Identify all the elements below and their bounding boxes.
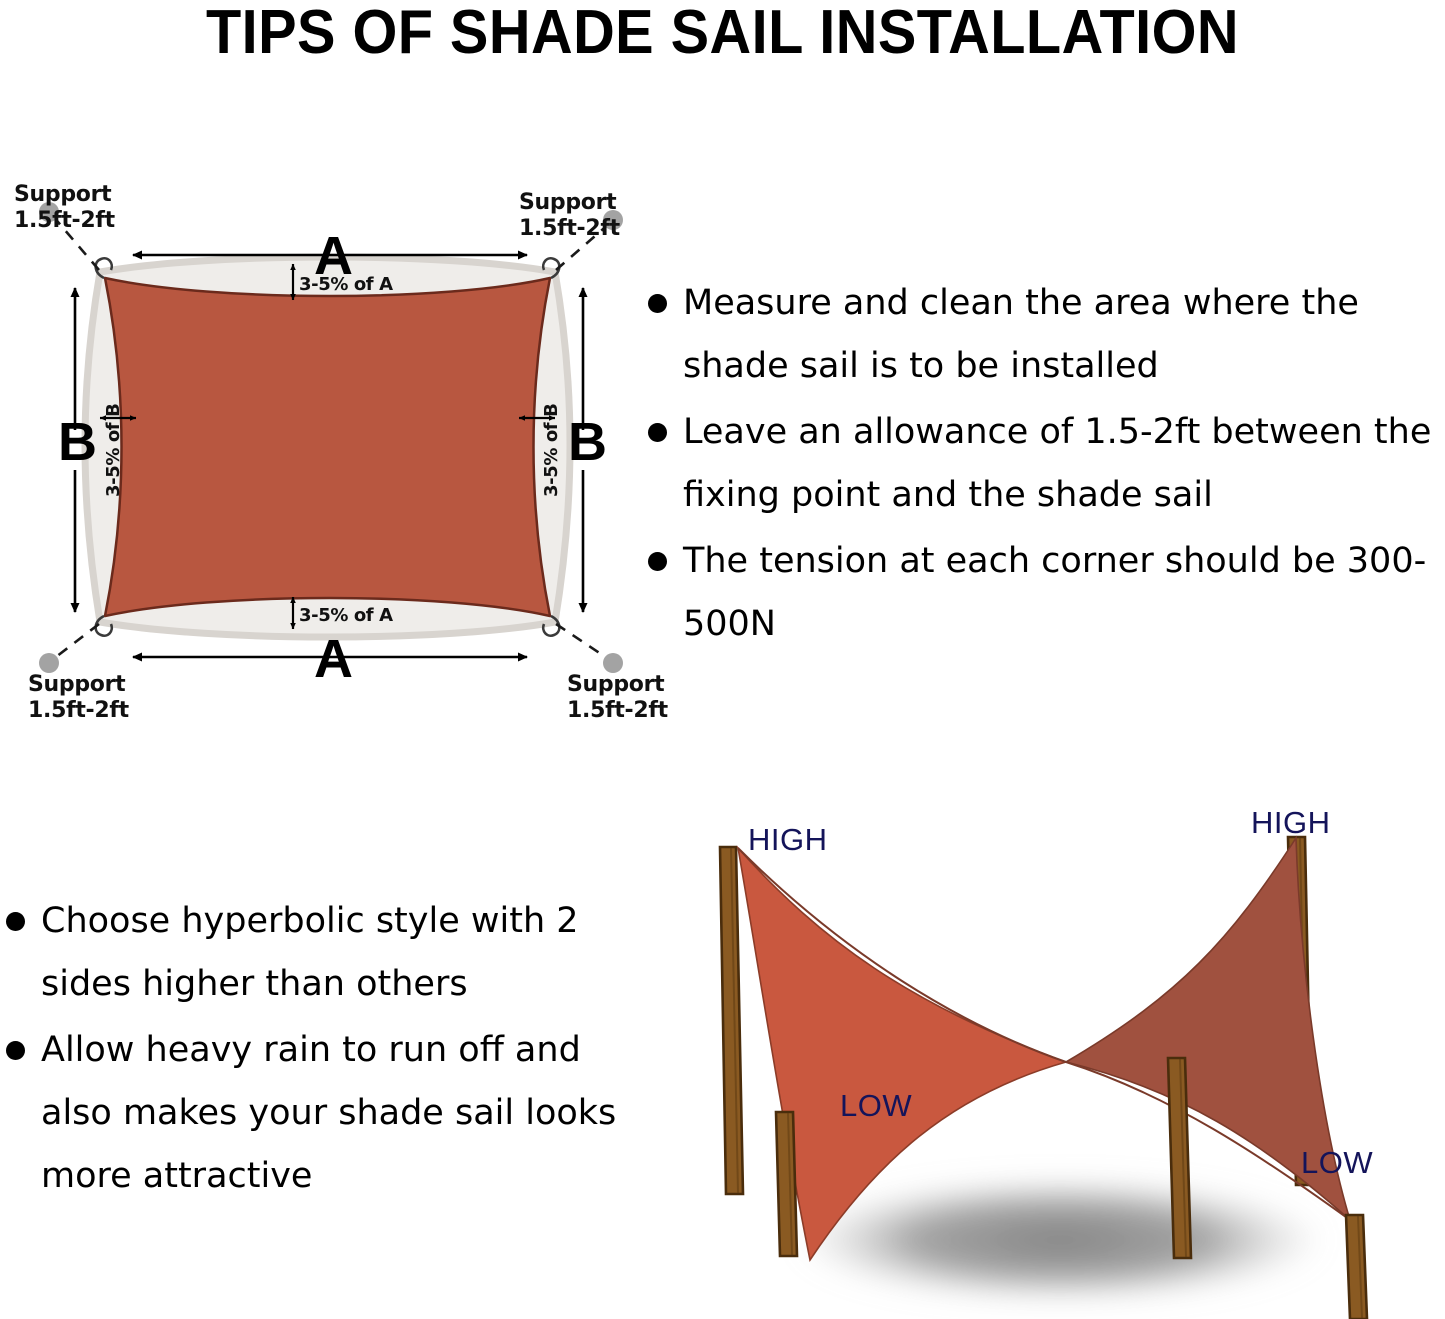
hyperbolic-sail-diagram: [660, 790, 1445, 1319]
curvature-label-right: 3-5% of B: [541, 404, 562, 497]
bullet-icon: [648, 552, 667, 571]
support-label-bottom-left: Support1.5ft-2ft: [28, 672, 129, 724]
tips-list-right: Measure and clean the area where the sha…: [648, 272, 1445, 659]
corner-label-high-left: HIGH: [748, 822, 828, 858]
curvature-label-left: 3-5% of B: [103, 404, 124, 497]
list-item: Measure and clean the area where the sha…: [648, 272, 1445, 398]
support-label-line2: 1.5ft-2ft: [14, 208, 115, 233]
support-label-line2: 1.5ft-2ft: [28, 698, 129, 723]
bullet-icon: [648, 423, 667, 442]
list-item: Allow heavy rain to run off and also mak…: [6, 1019, 626, 1208]
dimension-label-b-right: B: [568, 415, 607, 469]
bullet-icon: [648, 294, 667, 313]
corner-label-low-right: LOW: [1301, 1145, 1373, 1181]
support-label-line2: 1.5ft-2ft: [567, 698, 668, 723]
ground-shadow: [795, 1178, 1325, 1302]
support-line-bottom-left: [52, 624, 99, 660]
tips-list-lower-left: Choose hyperbolic style with 2 sides hig…: [6, 890, 626, 1211]
corner-label-high-right: HIGH: [1251, 805, 1331, 841]
pole-high-left: [720, 847, 743, 1194]
support-dot-bottom-right: [603, 653, 623, 673]
list-item: Choose hyperbolic style with 2 sides hig…: [6, 890, 626, 1016]
shade-sail-shape: [105, 278, 550, 616]
curvature-label-bottom: 3-5% of A: [299, 605, 393, 626]
support-label-bottom-right: Support1.5ft-2ft: [567, 672, 668, 724]
support-label-top-left: Support1.5ft-2ft: [14, 182, 115, 234]
curvature-label-top: 3-5% of A: [299, 274, 393, 295]
support-label-line1: Support: [567, 672, 664, 697]
support-label-line1: Support: [14, 182, 111, 207]
list-item: Leave an allowance of 1.5-2ft between th…: [648, 401, 1445, 527]
dimension-label-b-left: B: [58, 415, 97, 469]
support-label-top-right: Support1.5ft-2ft: [519, 190, 620, 242]
support-dot-bottom-left: [39, 653, 59, 673]
support-label-line2: 1.5ft-2ft: [519, 216, 620, 241]
pole-low-right: [1346, 1215, 1367, 1319]
corner-label-low-left: LOW: [840, 1088, 912, 1124]
page-title: TIPS OF SHADE SAIL INSTALLATION: [51, 0, 1395, 64]
pole-low-left: [776, 1112, 797, 1256]
support-line-bottom-right: [556, 624, 610, 660]
list-item-label: Leave an allowance of 1.5-2ft between th…: [683, 401, 1445, 527]
list-item-label: Allow heavy rain to run off and also mak…: [41, 1019, 626, 1208]
list-item-label: The tension at each corner should be 300…: [683, 530, 1445, 656]
list-item: The tension at each corner should be 300…: [648, 530, 1445, 656]
bullet-icon: [6, 1041, 25, 1060]
support-label-line1: Support: [28, 672, 125, 697]
list-item-label: Choose hyperbolic style with 2 sides hig…: [41, 890, 626, 1016]
bullet-icon: [6, 912, 25, 931]
list-item-label: Measure and clean the area where the sha…: [683, 272, 1445, 398]
dimension-label-a-bottom: A: [314, 632, 353, 686]
support-label-line1: Support: [519, 190, 616, 215]
